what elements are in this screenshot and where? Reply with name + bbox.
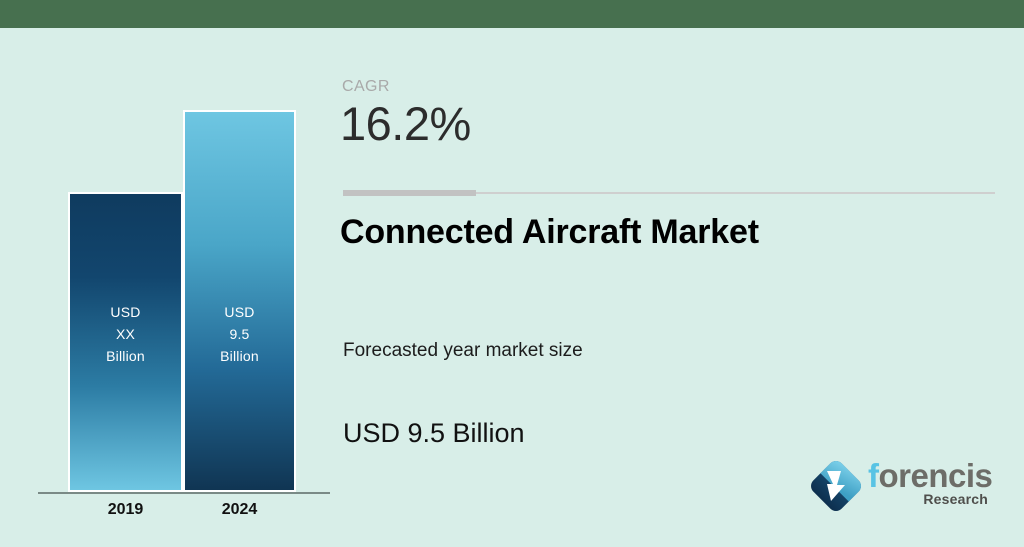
page-title: Connected Aircraft Market xyxy=(340,213,759,252)
chart-baseline-axis xyxy=(38,492,330,494)
bar-2019: USD XX Billion xyxy=(68,192,183,492)
forecast-label: Forecasted year market size xyxy=(343,340,583,362)
x-axis-label-2019: 2019 xyxy=(68,501,183,519)
bar-2019-label: USD XX Billion xyxy=(70,301,181,367)
top-green-band xyxy=(0,0,1024,28)
bar-2019-value: XX xyxy=(70,323,181,345)
forencis-brand-prefix: f xyxy=(868,457,879,494)
bar-chart: USD XX Billion USD 9.5 Billion 2019 2024 xyxy=(0,28,335,547)
forencis-diamond-bolt-icon xyxy=(805,455,867,517)
bar-2019-unit: Billion xyxy=(70,345,181,367)
bar-2024-value: 9.5 xyxy=(185,323,294,345)
divider-light-segment xyxy=(476,192,995,194)
bar-2024-label: USD 9.5 Billion xyxy=(185,301,294,367)
forecast-value: USD 9.5 Billion xyxy=(343,418,525,449)
forencis-brand-rest: orencis xyxy=(879,457,993,494)
bar-2024-unit: Billion xyxy=(185,345,294,367)
divider-strong-segment xyxy=(343,190,476,196)
bar-2024: USD 9.5 Billion xyxy=(183,110,296,492)
bar-2019-currency: USD xyxy=(70,301,181,323)
forencis-logo: forencis Research xyxy=(800,450,990,525)
section-divider xyxy=(343,190,995,196)
x-axis-label-2024: 2024 xyxy=(183,501,296,519)
cagr-value: 16.2% xyxy=(340,98,471,150)
forencis-brand-sub: Research xyxy=(923,491,988,507)
forencis-wordmark: forencis Research xyxy=(868,458,990,518)
bar-2024-currency: USD xyxy=(185,301,294,323)
cagr-label: CAGR xyxy=(342,78,390,96)
infographic-page: USD XX Billion USD 9.5 Billion 2019 2024… xyxy=(0,0,1024,547)
forencis-brand-text: forencis xyxy=(868,458,992,494)
